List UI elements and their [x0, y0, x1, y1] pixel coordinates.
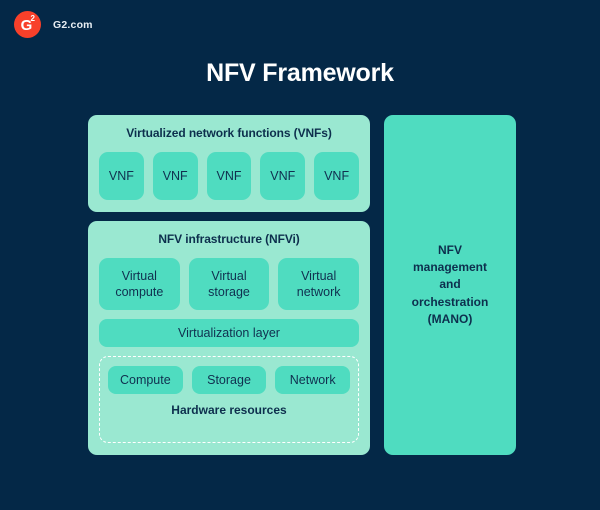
virtual-storage-box: Virtual storage — [189, 258, 270, 310]
virtualization-layer-box: Virtualization layer — [99, 319, 359, 347]
brand-bar: G 2 G2.com — [14, 11, 93, 38]
mano-panel: NFV management and orchestration (MANO) — [384, 115, 516, 455]
hardware-resources-group: Compute Storage Network Hardware resourc… — [99, 356, 359, 443]
hardware-network-box: Network — [275, 366, 350, 394]
brand-name: G2.com — [53, 19, 93, 31]
virtual-resources-row: Virtual compute Virtual storage Virtual … — [99, 258, 359, 310]
vnf-panel-title: Virtualized network functions (VNFs) — [99, 126, 359, 140]
vnf-box: VNF — [314, 152, 359, 200]
virtual-compute-box: Virtual compute — [99, 258, 180, 310]
vnf-panel: Virtualized network functions (VNFs) VNF… — [88, 115, 370, 212]
hardware-storage-box: Storage — [192, 366, 267, 394]
page-title: NFV Framework — [0, 59, 600, 88]
vnf-box: VNF — [207, 152, 252, 200]
g2-logo-letter: G — [14, 11, 41, 38]
vnf-box: VNF — [260, 152, 305, 200]
nfv-framework-diagram: Virtualized network functions (VNFs) VNF… — [88, 115, 516, 455]
diagram-left-column: Virtualized network functions (VNFs) VNF… — [88, 115, 370, 455]
nfvi-panel-title: NFV infrastructure (NFVi) — [99, 232, 359, 246]
vnf-box: VNF — [153, 152, 198, 200]
mano-panel-label: NFV management and orchestration (MANO) — [412, 242, 489, 327]
vnf-box-row: VNF VNF VNF VNF VNF — [99, 152, 359, 200]
nfvi-panel: NFV infrastructure (NFVi) Virtual comput… — [88, 221, 370, 455]
hardware-resources-label: Hardware resources — [108, 403, 350, 417]
hardware-box-row: Compute Storage Network — [108, 366, 350, 394]
virtual-network-box: Virtual network — [278, 258, 359, 310]
vnf-box: VNF — [99, 152, 144, 200]
hardware-compute-box: Compute — [108, 366, 183, 394]
g2-logo-icon: G 2 — [14, 11, 41, 38]
g2-logo-superscript: 2 — [31, 15, 35, 23]
